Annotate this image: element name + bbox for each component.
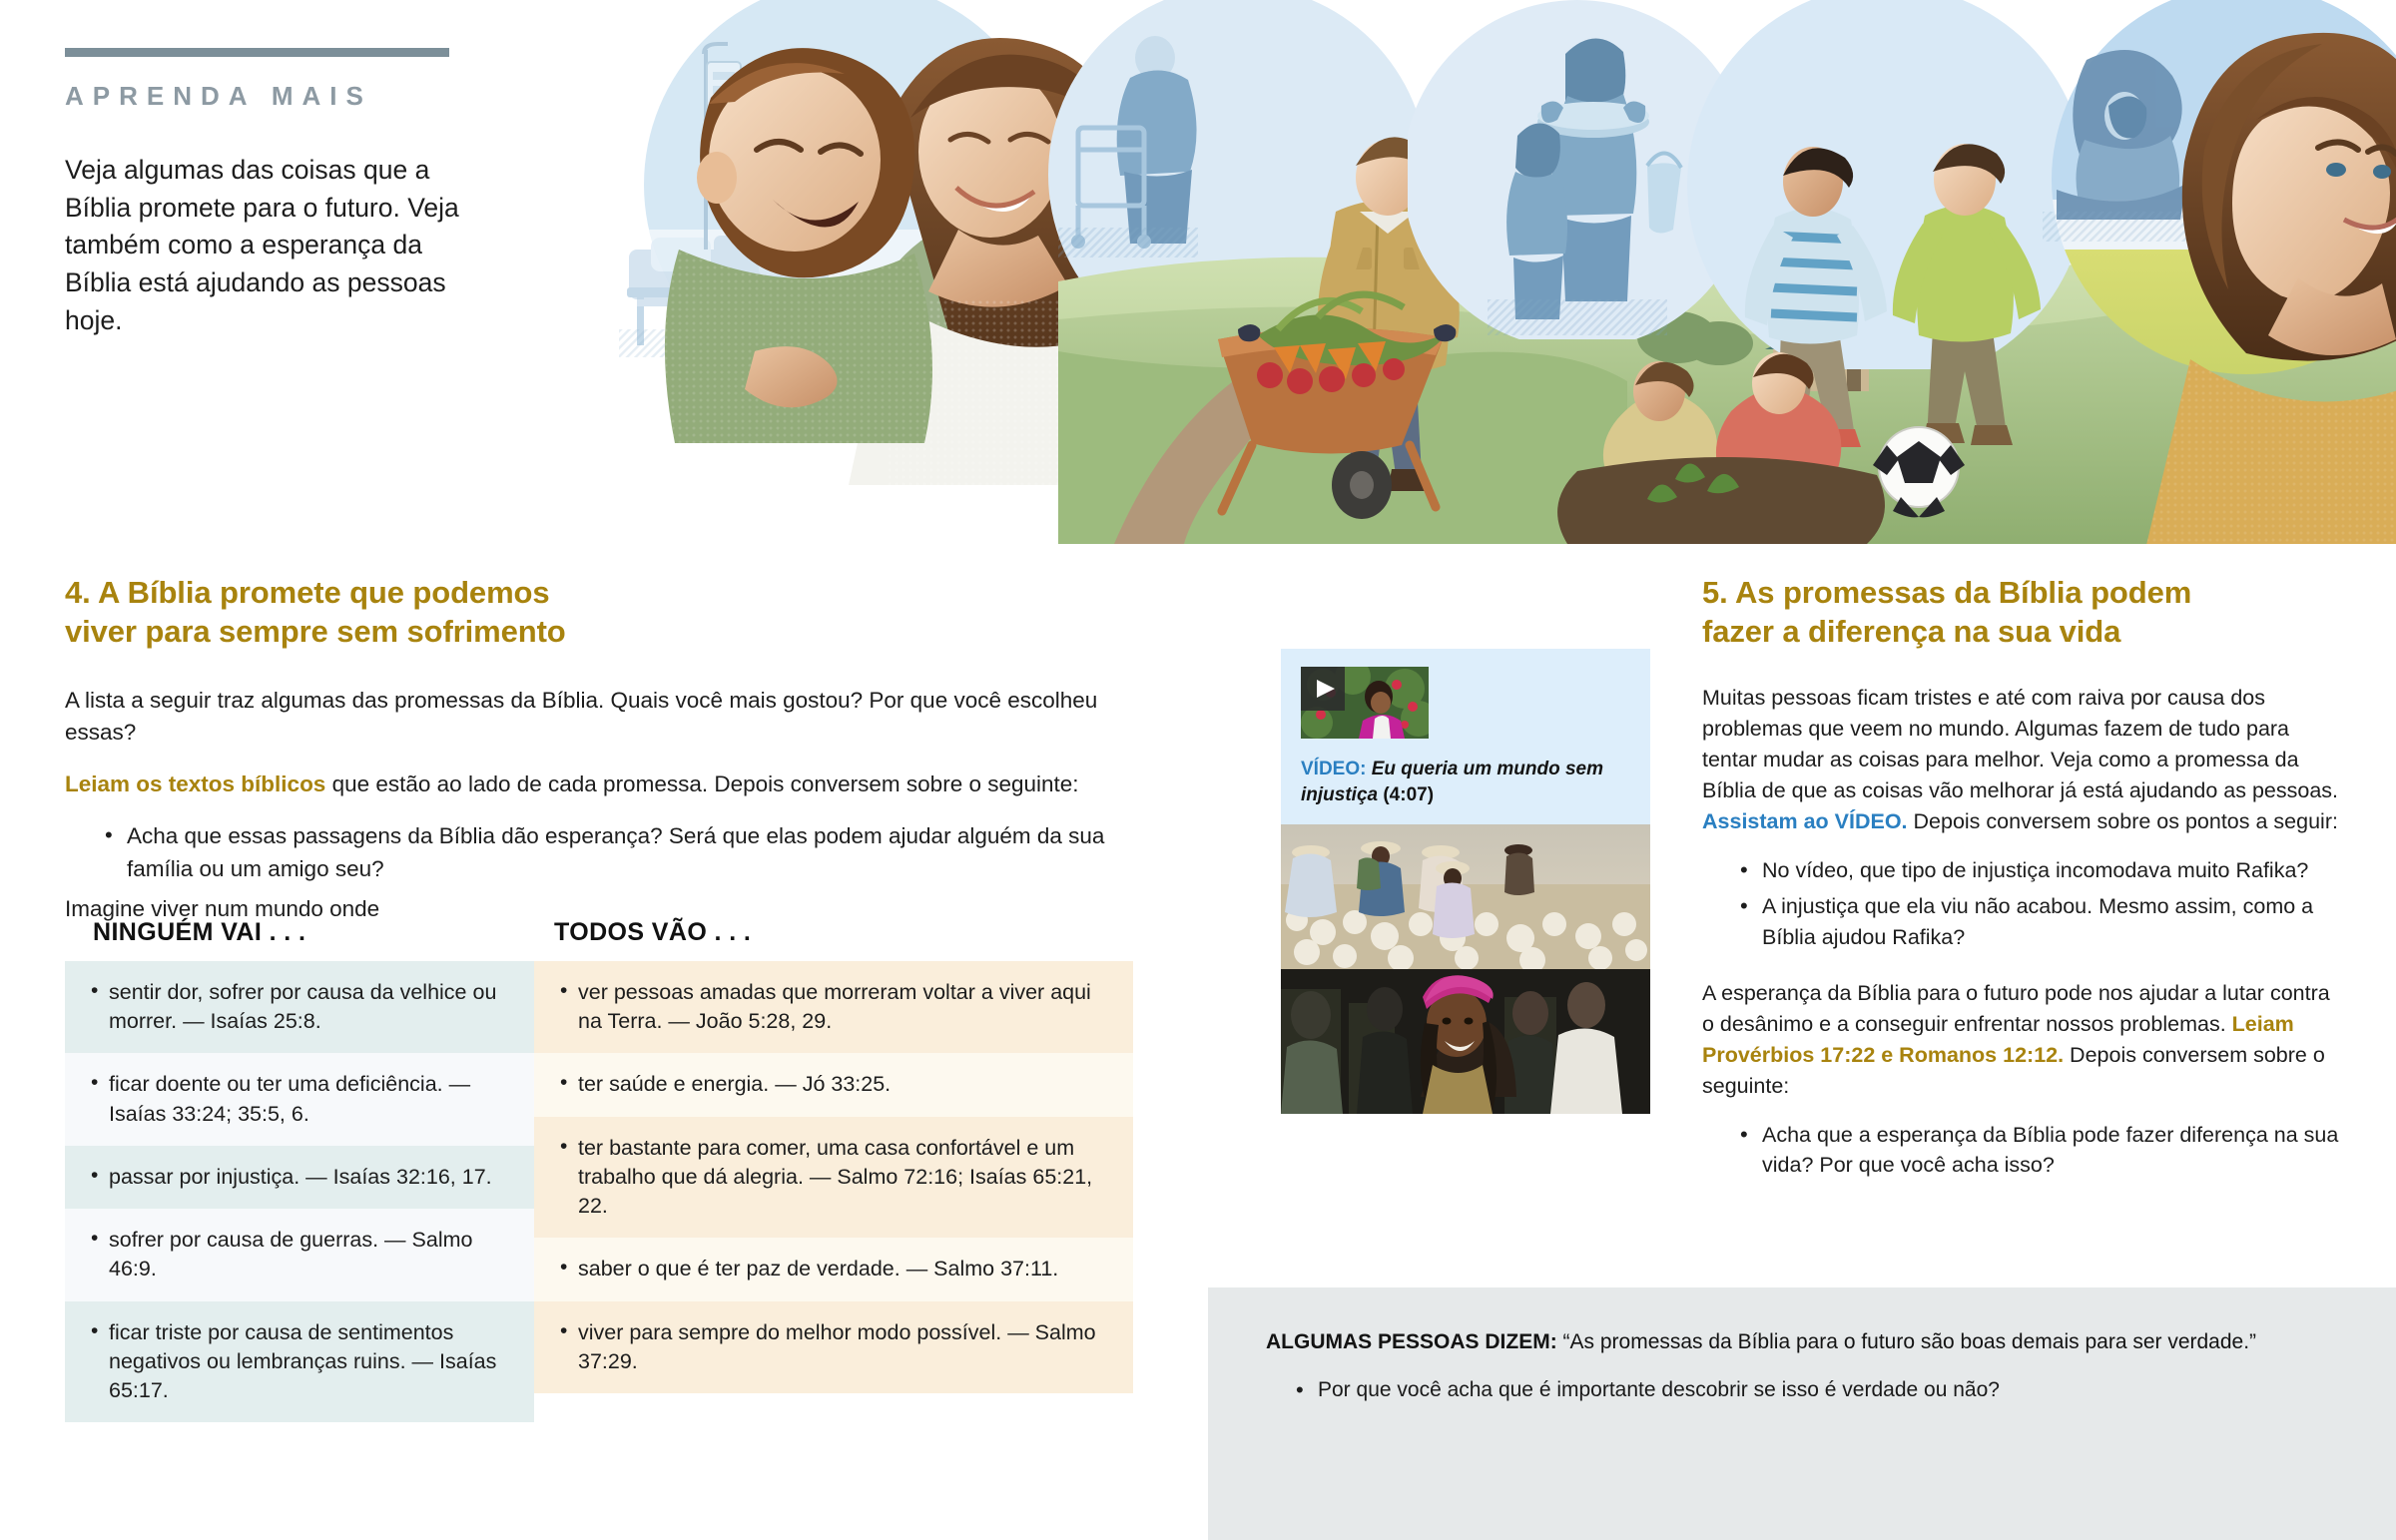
video-caption: VÍDEO: Eu queria um mundo sem injustiça … xyxy=(1301,757,1630,808)
table-row: ter bastante para comer, uma casa confor… xyxy=(534,1117,1133,1239)
section-5-question-list-2: Acha que a esperança da Bíblia pode faze… xyxy=(1702,1120,2341,1181)
section-5-paragraph-1a: Muitas pessoas ficam tristes e até com r… xyxy=(1702,686,2338,802)
list-item: Acha que a esperança da Bíblia pode faze… xyxy=(1740,1120,2341,1181)
section-4-heading-line2: viver para sempre sem sofrimento xyxy=(65,614,566,649)
say-box-question-list: Por que você acha que é importante desco… xyxy=(1266,1375,2342,1405)
section-5-paragraph-1: Muitas pessoas ficam tristes e até com r… xyxy=(1702,683,2341,837)
read-scriptures-link[interactable]: Leiam os textos bíblicos xyxy=(65,771,325,796)
eyebrow-label: APRENDA MAIS xyxy=(65,81,494,112)
some-people-say-box: ALGUMAS PESSOAS DIZEM: “As promessas da … xyxy=(1208,1287,2396,1540)
table-header-row: NINGUÉM VAI . . . TODOS VÃO . . . xyxy=(65,918,1133,947)
hero-illustration xyxy=(559,0,2396,544)
video-duration: (4:07) xyxy=(1383,784,1434,805)
table-column-header-right: TODOS VÃO . . . xyxy=(534,918,1133,947)
table-column-header-left: NINGUÉM VAI . . . xyxy=(65,918,534,947)
list-item: Acha que essas passagens da Bíblia dão e… xyxy=(105,820,1133,884)
table-body: sentir dor, sofrer por causa da velhice … xyxy=(65,961,1133,1422)
section-5-paragraph-2: A esperança da Bíblia para o futuro pode… xyxy=(1702,978,2341,1102)
section-5: 5. As promessas da Bíblia podem fazer a … xyxy=(1702,547,2341,1187)
section-5-heading-line1: 5. As promessas da Bíblia podem xyxy=(1702,575,2191,610)
section-5-paragraph-1b: Depois conversem sobre os pontos a segui… xyxy=(1908,809,2338,833)
intro-paragraph: Veja algumas das coisas que a Bíblia pro… xyxy=(65,152,479,339)
say-box-quote-text: “As promessas da Bíblia para o futuro sã… xyxy=(1557,1330,2256,1353)
video-still-woman-smiling xyxy=(1281,969,1650,1114)
table-row: ficar doente ou ter uma deficiência. — I… xyxy=(65,1053,534,1145)
table-row: sentir dor, sofrer por causa da velhice … xyxy=(65,961,534,1053)
table-row: ficar triste por causa de sentimentos ne… xyxy=(65,1301,534,1423)
watch-video-link[interactable]: Assistam ao VÍDEO. xyxy=(1702,809,1908,833)
table-row: saber o que é ter paz de verdade. — Salm… xyxy=(534,1238,1133,1300)
section-5-question-list-1: No vídeo, que tipo de injustiça incomoda… xyxy=(1702,855,2341,953)
hero-artwork xyxy=(559,0,2396,544)
table-row: passar por injustiça. — Isaías 32:16, 17… xyxy=(65,1146,534,1209)
section-5-heading-line2: fazer a diferença na sua vida xyxy=(1702,614,2120,649)
video-still-cotton-field xyxy=(1281,824,1650,969)
section-4-heading-line1: 4. A Bíblia promete que podemos xyxy=(65,575,550,610)
list-item: A injustiça que ela viu não acabou. Mesm… xyxy=(1740,891,2341,952)
section-4-paragraph-2-rest: que estão ao lado de cada promessa. Depo… xyxy=(325,771,1078,796)
section-4-heading: 4. A Bíblia promete que podemos viver pa… xyxy=(65,573,1133,651)
section-4-paragraph-1: A lista a seguir traz algumas das promes… xyxy=(65,685,1133,749)
table-row: viver para sempre do melhor modo possíve… xyxy=(534,1301,1133,1393)
list-item: No vídeo, que tipo de injustiça incomoda… xyxy=(1740,855,2341,886)
say-box-quote: ALGUMAS PESSOAS DIZEM: “As promessas da … xyxy=(1266,1327,2342,1357)
say-box-label: ALGUMAS PESSOAS DIZEM: xyxy=(1266,1330,1557,1353)
section-5-heading: 5. As promessas da Bíblia podem fazer a … xyxy=(1702,573,2341,651)
section-4: 4. A Bíblia promete que podemos viver pa… xyxy=(65,547,1133,945)
list-item: Por que você acha que é importante desco… xyxy=(1296,1375,2342,1405)
intro-block: APRENDA MAIS Veja algumas das coisas que… xyxy=(65,48,494,339)
table-column-right: ver pessoas amadas que morreram voltar a… xyxy=(534,961,1133,1422)
video-panel-header: VÍDEO: Eu queria um mundo sem injustiça … xyxy=(1281,649,1650,824)
table-column-left: sentir dor, sofrer por causa da velhice … xyxy=(65,961,534,1422)
table-row: sofrer por causa de guerras. — Salmo 46:… xyxy=(65,1209,534,1300)
section-4-paragraph-2: Leiam os textos bíblicos que estão ao la… xyxy=(65,769,1133,800)
video-thumbnail-image xyxy=(1301,667,1429,739)
table-row: ver pessoas amadas que morreram voltar a… xyxy=(534,961,1133,1053)
table-row: ter saúde e energia. — Jó 33:25. xyxy=(534,1053,1133,1116)
section-4-question-list: Acha que essas passagens da Bíblia dão e… xyxy=(65,820,1133,884)
intro-rule xyxy=(65,48,449,57)
video-label: VÍDEO: xyxy=(1301,759,1366,779)
promises-table: NINGUÉM VAI . . . TODOS VÃO . . . sentir… xyxy=(65,918,1133,1422)
video-thumbnail[interactable] xyxy=(1301,667,1429,739)
video-panel[interactable]: VÍDEO: Eu queria um mundo sem injustiça … xyxy=(1281,649,1650,1114)
